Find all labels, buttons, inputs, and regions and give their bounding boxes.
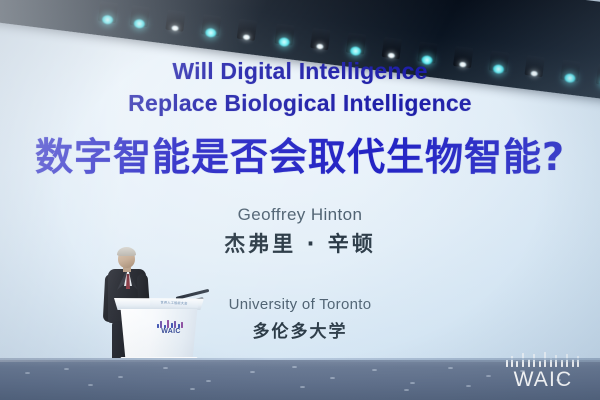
floor-reflection-speck [404, 389, 409, 391]
skyline-bar [533, 354, 535, 367]
floor-reflection-speck [292, 366, 297, 368]
floor-reflection-speck [190, 388, 195, 390]
floor-reflection-speck [250, 371, 255, 373]
floor-reflection-speck [163, 367, 168, 369]
skyline-bar [516, 361, 518, 367]
slide-title-cn: 数字智能是否会取代生物智能? [0, 138, 600, 178]
floor-reflection-speck [25, 372, 30, 374]
floor-reflection-speck [64, 368, 69, 370]
floor-reflection-speck [88, 384, 93, 386]
slide-affiliation-en: University of Toronto [0, 296, 600, 313]
skyline-bar [561, 360, 563, 367]
skyline-bar [522, 353, 524, 367]
skyline-bar [506, 360, 508, 367]
floor-reflection-speck [448, 367, 453, 369]
lectern-skyline-bar [167, 320, 169, 328]
floor-reflection-speck [372, 369, 377, 371]
skyline-bar [555, 355, 557, 367]
lectern-skyline-bar [171, 323, 173, 328]
lectern-skyline-icon [156, 320, 186, 328]
floor-reflection-speck [330, 377, 335, 379]
skyline-bar [528, 359, 530, 367]
lectern-waic-wordmark: WAIC [156, 328, 186, 335]
skyline-bar [572, 359, 574, 367]
conference-stage-photo: Will Digital Intelligence Replace Biolog… [0, 0, 600, 400]
speaker-hair [117, 247, 136, 256]
lectern-skyline-bar [164, 325, 166, 328]
waic-wordmark: WAIC [500, 368, 586, 392]
floor-reflection-speck [410, 382, 415, 384]
lectern-skyline-bar [157, 324, 159, 328]
skyline-bar [566, 354, 568, 367]
lectern-skyline-bar [178, 324, 180, 328]
slide-content: Will Digital Intelligence Replace Biolog… [0, 0, 600, 362]
floor-reflection-speck [118, 376, 123, 378]
lectern-waic-logo: WAIC [156, 320, 186, 342]
floor-reflection-speck [206, 380, 211, 382]
floor-reflection-speck [466, 385, 471, 387]
slide-speaker-name-cn: 杰弗里 · 辛顿 [0, 228, 600, 258]
slide-affiliation-cn: 多伦多大学 [0, 317, 600, 342]
lectern-skyline-bar [181, 322, 183, 328]
slide-title-en-line2: Replace Biological Intelligence [0, 92, 600, 115]
slide-speaker-name-en: Geoffrey Hinton [0, 205, 600, 225]
stage-floor: WAIC [0, 358, 600, 400]
stage-floor-edge [0, 358, 600, 360]
lectern-skyline-bar [174, 321, 176, 328]
floor-reflection-speck [486, 375, 491, 377]
skyline-bar [539, 361, 541, 367]
slide-title-en-line1: Will Digital Intelligence [0, 60, 600, 83]
lectern-skyline-bar [160, 321, 162, 328]
floor-reflection-speck [300, 386, 305, 388]
